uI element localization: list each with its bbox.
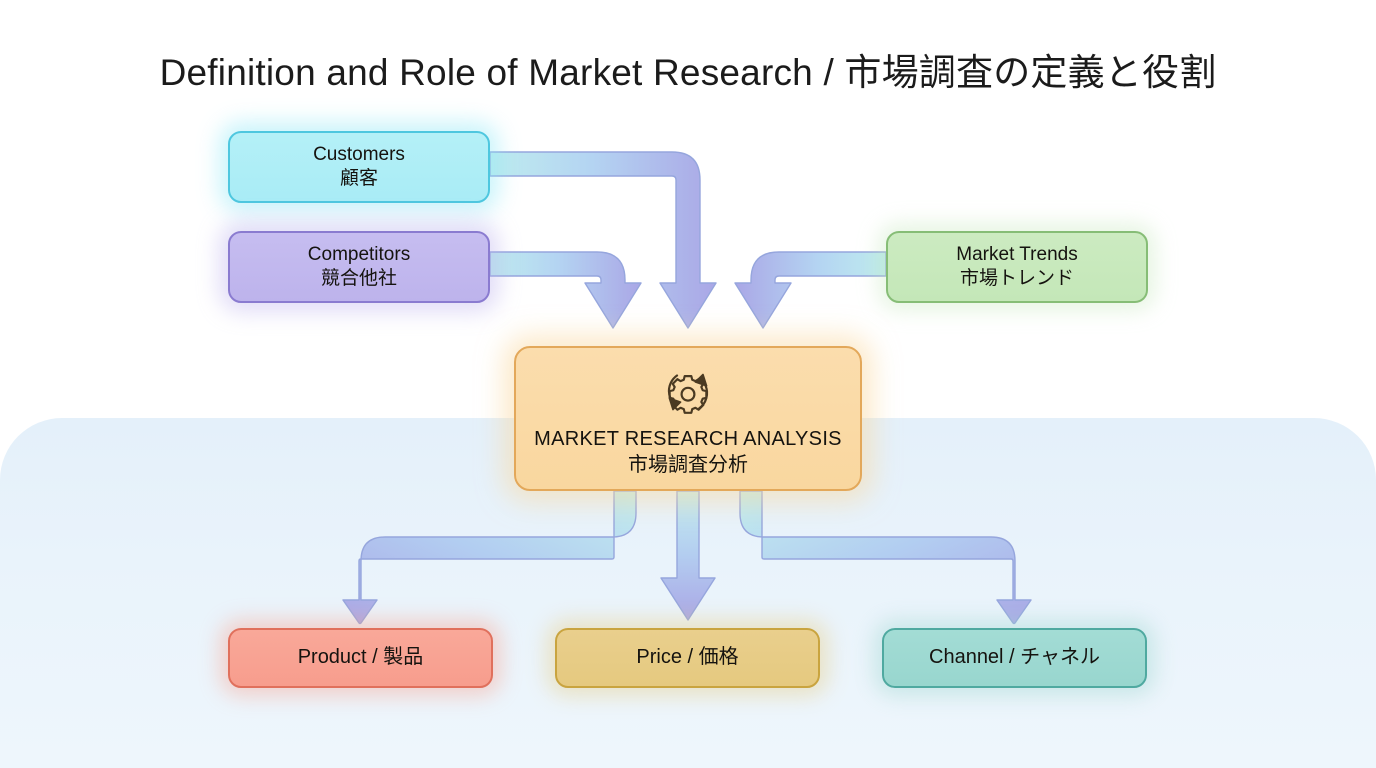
node-competitors-label-ja: 競合他社 [321,267,397,291]
gear-cycle-icon [659,363,717,421]
node-channel-label: Channel / チャネル [929,645,1100,670]
node-customers-label-en: Customers [313,143,405,167]
node-customers-label-ja: 顧客 [340,167,378,191]
diagram-canvas: Definition and Role of Market Research /… [0,0,1376,768]
node-analysis-label-ja: 市場調査分析 [628,453,748,478]
page-title: Definition and Role of Market Research /… [0,42,1376,96]
node-market-trends-label-en: Market Trends [956,243,1077,267]
node-channel[interactable]: Channel / チャネル [882,628,1147,688]
node-product-label: Product / 製品 [298,645,424,670]
node-customers[interactable]: Customers 顧客 [228,131,490,203]
arrow-customers-to-analysis [490,152,716,328]
node-product[interactable]: Product / 製品 [228,628,493,688]
node-price[interactable]: Price / 価格 [555,628,820,688]
arrow-competitors-to-analysis [490,252,641,328]
arrow-market-trends-to-analysis [735,252,886,328]
node-market-trends-label-ja: 市場トレンド [960,267,1074,291]
node-market-research-analysis[interactable]: MARKET RESEARCH ANALYSIS 市場調査分析 [514,346,862,491]
node-analysis-label-en: MARKET RESEARCH ANALYSIS [534,427,842,452]
node-price-label: Price / 価格 [636,645,738,670]
node-competitors[interactable]: Competitors 競合他社 [228,231,490,303]
node-competitors-label-en: Competitors [308,243,410,267]
node-market-trends[interactable]: Market Trends 市場トレンド [886,231,1148,303]
